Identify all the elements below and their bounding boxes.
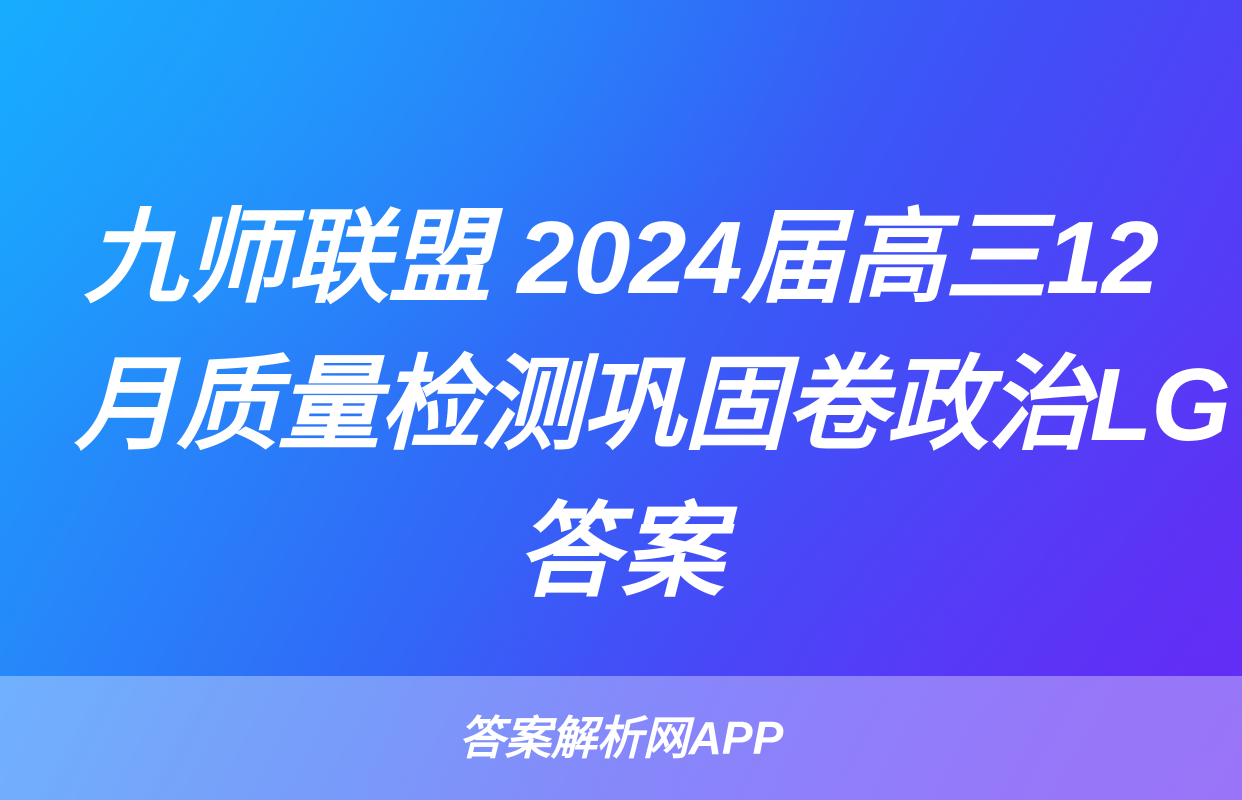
headline-line-2: 月质量检测巩固卷政治LG [75, 331, 1168, 478]
headline-line-1: 九师联盟 2024届高三12 [75, 184, 1168, 331]
app-promo-banner-label: 答案解析网APP [459, 713, 784, 763]
page-title: 九师联盟 2024届高三12 月质量检测巩固卷政治LG 答案 [0, 184, 1242, 625]
answer-card: 九师联盟 2024届高三12 月质量检测巩固卷政治LG 答案 答案解析网APP [0, 0, 1242, 800]
app-promo-banner[interactable]: 答案解析网APP [0, 676, 1242, 800]
headline-line-3: 答案 [75, 478, 1168, 625]
